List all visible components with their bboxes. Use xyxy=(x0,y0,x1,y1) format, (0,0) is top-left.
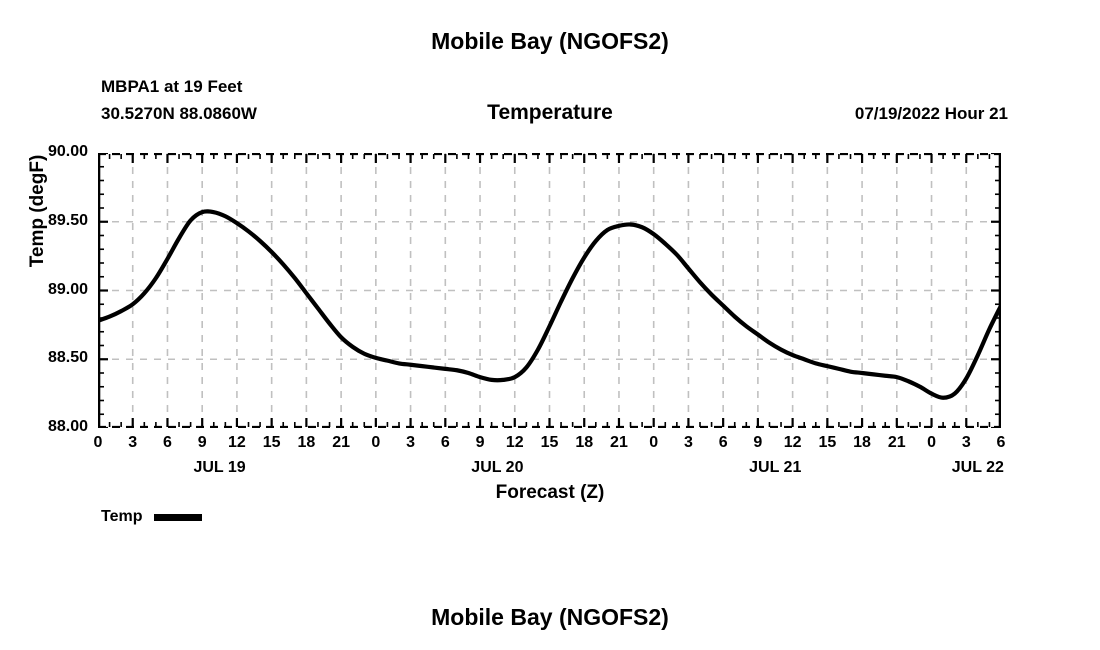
legend-label-temp: Temp xyxy=(101,508,142,526)
chart-page: Mobile Bay (NGOFS2) MBPA1 at 19 Feet 30.… xyxy=(0,0,1100,650)
x-axis-title: Forecast (Z) xyxy=(0,482,1100,504)
x-day-label: JUL 21 xyxy=(705,459,845,477)
x-day-label: JUL 19 xyxy=(150,459,290,477)
model-run-timestamp: 07/19/2022 Hour 21 xyxy=(855,104,1008,124)
x-day-label: JUL 22 xyxy=(908,459,1048,477)
plot-area xyxy=(98,153,1001,428)
legend-swatch-temp xyxy=(154,514,202,521)
y-tick-label: 89.00 xyxy=(16,281,88,299)
y-tick-label: 89.50 xyxy=(16,212,88,230)
station-label: MBPA1 at 19 Feet xyxy=(101,77,242,97)
y-tick-label: 88.50 xyxy=(16,349,88,367)
legend: Temp xyxy=(101,508,202,526)
temperature-line-chart xyxy=(98,153,1001,428)
x-day-label: JUL 20 xyxy=(427,459,567,477)
x-tick-label: 6 xyxy=(981,434,1021,452)
page-title-bottom: Mobile Bay (NGOFS2) xyxy=(0,604,1100,631)
page-title: Mobile Bay (NGOFS2) xyxy=(0,28,1100,55)
y-tick-label: 90.00 xyxy=(16,143,88,161)
